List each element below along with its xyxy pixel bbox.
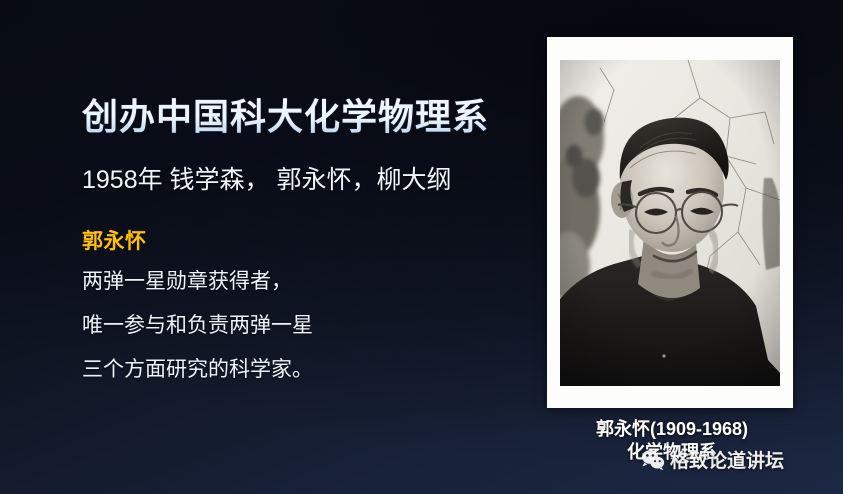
bio-line-2: 唯一参与和负责两弹一星 xyxy=(82,315,532,336)
portrait-guo-yonghuai-image xyxy=(560,60,780,386)
portrait-photo-block xyxy=(547,37,793,408)
bio-line-1: 两弹一星勋章获得者， xyxy=(82,271,532,292)
slide-subtitle: 1958年 钱学森， 郭永怀，柳大纲 xyxy=(82,164,532,197)
slide-canvas: 创办中国科大化学物理系 1958年 钱学森， 郭永怀，柳大纲 郭永怀 两弹一星勋… xyxy=(0,0,843,494)
caption-line-name-dates: 郭永怀(1909-1968) xyxy=(547,418,797,441)
bio-line-3: 三个方面研究的科学家。 xyxy=(82,359,532,380)
caption-line-department: 化学物理系 xyxy=(547,441,797,464)
person-name-highlight: 郭永怀 xyxy=(82,225,532,255)
photo-image-area xyxy=(560,60,780,386)
slide-title: 创办中国科大化学物理系 xyxy=(82,96,532,138)
photo-caption: 郭永怀(1909-1968) 化学物理系 xyxy=(547,418,797,464)
text-column: 创办中国科大化学物理系 1958年 钱学森， 郭永怀，柳大纲 郭永怀 两弹一星勋… xyxy=(82,96,532,380)
